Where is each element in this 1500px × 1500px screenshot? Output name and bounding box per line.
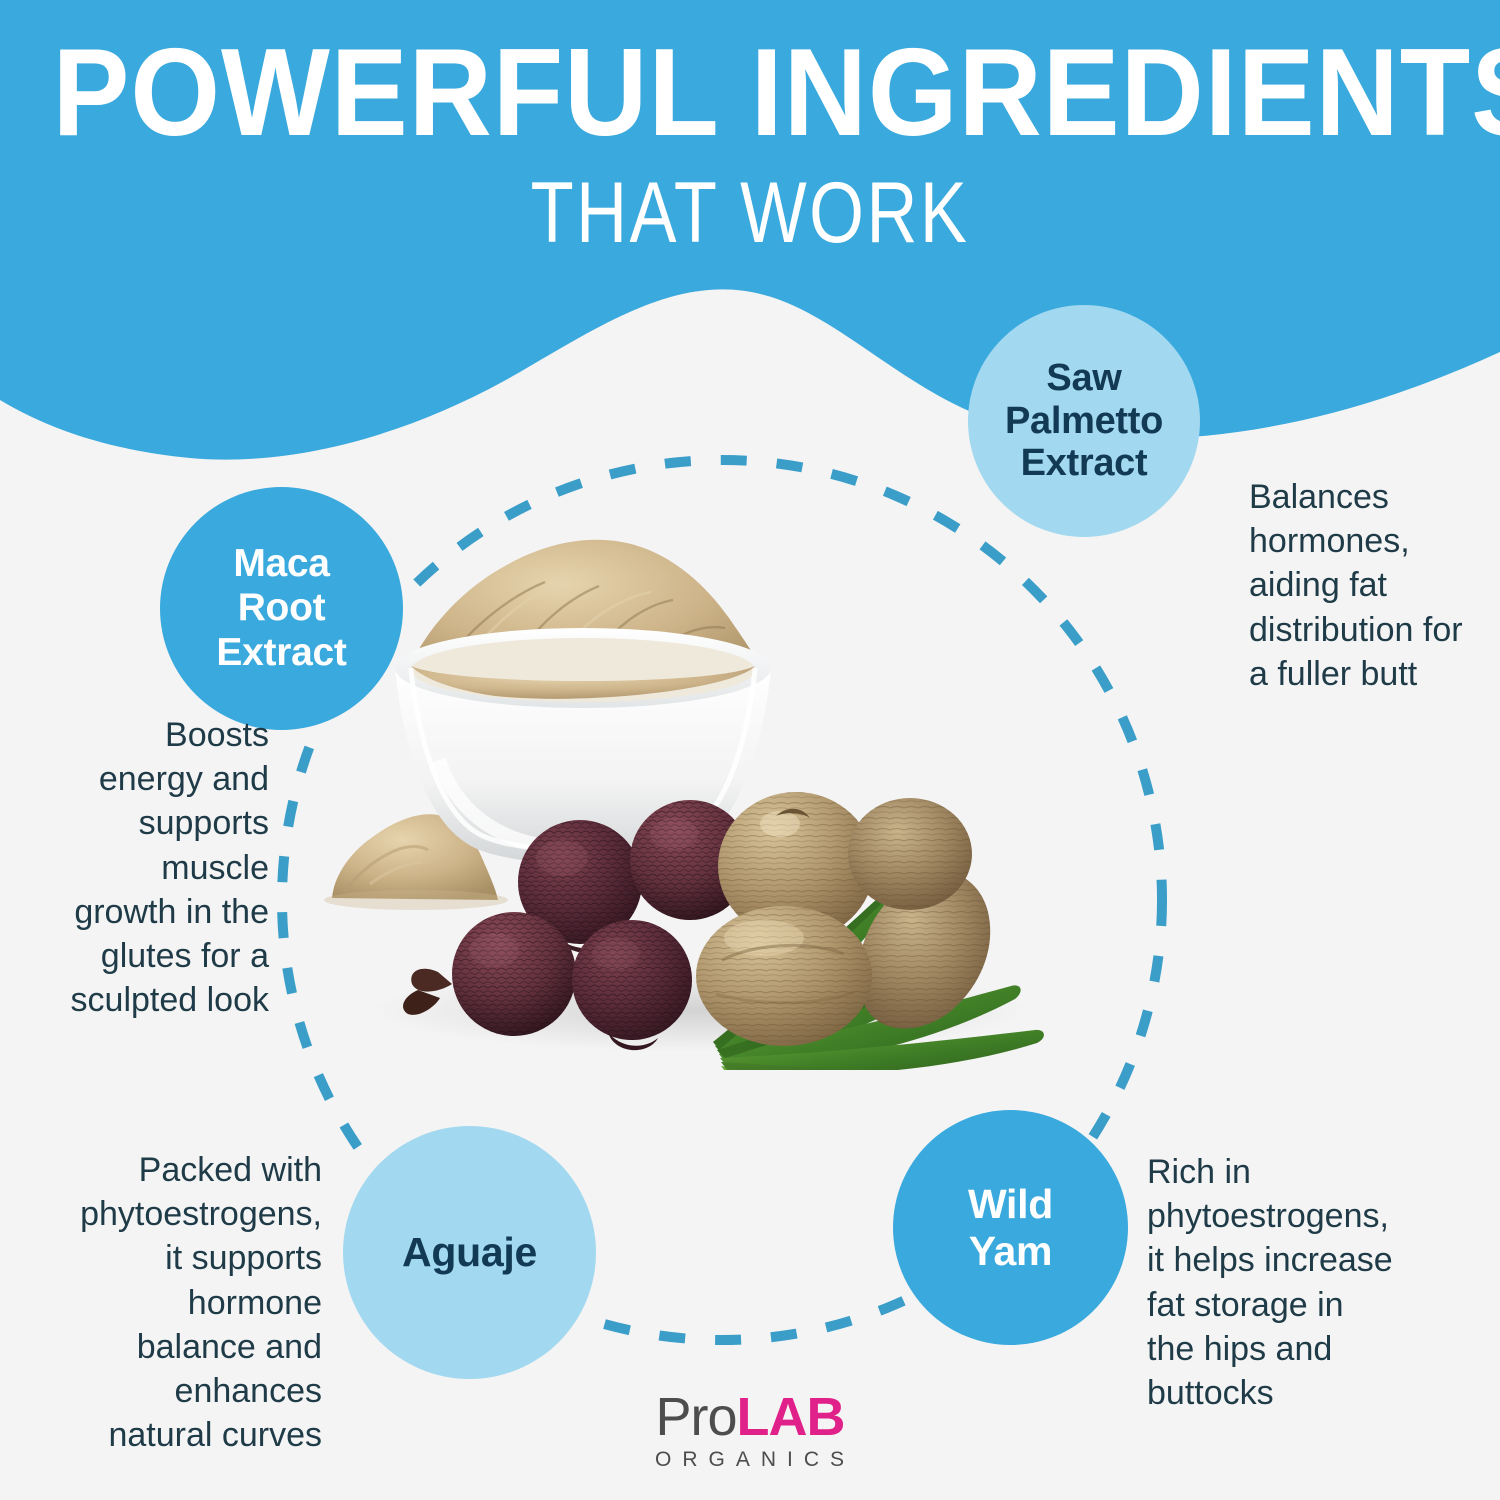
ingredient-name-wild-yam: Wild Yam bbox=[968, 1181, 1053, 1274]
logo-organics-text: ORGANICS bbox=[10, 1448, 1500, 1472]
ingredient-name-maca-root: Maca Root Extract bbox=[216, 542, 346, 674]
page-title: POWERFUL INGREDIENTS bbox=[53, 30, 1448, 156]
ingredient-bubble-saw-palmetto[interactable]: Saw Palmetto Extract bbox=[968, 305, 1200, 537]
infographic-poster: POWERFUL INGREDIENTS THAT WORK bbox=[0, 0, 1500, 1500]
ingredient-bubble-maca-root[interactable]: Maca Root Extract bbox=[160, 487, 403, 730]
ingredient-description-maca-root: Boosts energy and supports muscle growth… bbox=[14, 713, 269, 1022]
ingredient-description-saw-palmetto: Balances hormones, aiding fat distributi… bbox=[1249, 475, 1499, 696]
logo-pro-text: Pro bbox=[655, 1387, 736, 1447]
ingredient-bubble-aguaje[interactable]: Aguaje bbox=[343, 1126, 596, 1379]
ingredient-bubble-wild-yam[interactable]: Wild Yam bbox=[893, 1110, 1128, 1345]
poster-title-group: POWERFUL INGREDIENTS THAT WORK bbox=[0, 30, 1500, 259]
page-subtitle: THAT WORK bbox=[135, 168, 1365, 258]
logo-lab-text: LAB bbox=[737, 1387, 845, 1447]
ingredient-name-aguaje: Aguaje bbox=[402, 1229, 537, 1275]
ingredient-description-wild-yam: Rich in phytoestrogens, it helps increas… bbox=[1147, 1150, 1412, 1415]
brand-logo: ProLAB ORGANICS bbox=[0, 1390, 1500, 1472]
ingredient-name-saw-palmetto: Saw Palmetto Extract bbox=[1005, 357, 1163, 486]
product-ingredients-photo bbox=[300, 450, 1130, 1070]
wild-yam-tubers bbox=[696, 792, 990, 1046]
logo-wordmark: ProLAB bbox=[0, 1390, 1500, 1444]
